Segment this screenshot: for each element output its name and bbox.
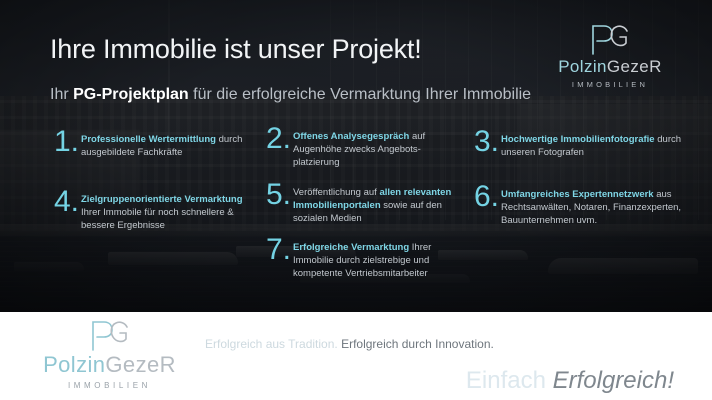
step-text-bold: Erfolgreiche Vermarktung bbox=[293, 242, 409, 253]
step-item-4: 4. Zielgruppenorientierte Vermarktung Ih… bbox=[54, 193, 259, 232]
subtitle-highlight: PG-Projektplan bbox=[73, 86, 189, 103]
step-text-rest: Ihrer Immobile für noch schnellere & bes… bbox=[81, 207, 234, 231]
step-text: Erfolgreiche Vermarktung Ihrer Immobilie… bbox=[293, 241, 471, 280]
step-text: Veröffentlichung auf allen relevanten Im… bbox=[293, 186, 471, 225]
step-text-bold: Offenes Analysegespräch bbox=[293, 131, 409, 142]
subtitle-pre: Ihr bbox=[50, 86, 73, 103]
step-item-6: 6. Umfangreiches Expertennetzwerk aus Re… bbox=[474, 188, 689, 227]
step-text-bold: Umfangreiches Expertennetzwerk bbox=[501, 189, 654, 200]
step-text: Hochwertige Immobilienfotografie durch u… bbox=[501, 133, 689, 159]
step-text-bold: Hochwertige Immobilienfotografie bbox=[501, 134, 655, 145]
brand-wordmark: PolzinGezeR bbox=[540, 58, 680, 75]
brand-word-first: Polzin bbox=[43, 352, 105, 377]
brand-word-first: Polzin bbox=[558, 57, 607, 76]
claim-erfolgreich: Erfolgreich! bbox=[553, 367, 674, 394]
step-item-5: 5. Veröffentlichung auf allen relevanten… bbox=[266, 186, 471, 225]
pg-monogram-icon bbox=[540, 22, 680, 56]
step-text: Umfangreiches Expertennetzwerk aus Recht… bbox=[501, 188, 689, 227]
brand-logo-footer: PolzinGezeR IMMOBILIEN bbox=[22, 318, 197, 390]
step-text: Offenes Analysegespräch auf Augenhöhe zw… bbox=[293, 130, 466, 169]
footer-section: PolzinGezeR IMMOBILIEN Erfolgreich aus T… bbox=[0, 312, 712, 400]
brand-subtitle: IMMOBILIEN bbox=[540, 80, 680, 89]
step-item-3: 3. Hochwertige Immobilienfotografie durc… bbox=[474, 133, 689, 159]
step-text-bold: Professionelle Wertermittlung bbox=[81, 134, 216, 145]
pg-monogram-icon bbox=[22, 318, 197, 352]
step-text: Professionelle Wertermittlung durch ausg… bbox=[81, 133, 254, 159]
marketing-poster: Ihre Immobilie ist unser Projekt! Ihr PG… bbox=[0, 0, 712, 400]
step-item-1: 1. Professionelle Wertermittlung durch a… bbox=[54, 133, 254, 159]
brand-wordmark: PolzinGezeR bbox=[22, 354, 197, 376]
step-text: Zielgruppenorientierte Vermarktung Ihrer… bbox=[81, 193, 259, 232]
page-title: Ihre Immobilie ist unser Projekt! bbox=[50, 34, 422, 65]
page-subtitle: Ihr PG-Projektplan für die erfolgreiche … bbox=[50, 86, 531, 104]
brand-subtitle: IMMOBILIEN bbox=[22, 381, 197, 390]
step-item-2: 2. Offenes Analysegespräch auf Augenhöhe… bbox=[266, 130, 466, 169]
step-number: 7. bbox=[266, 237, 293, 263]
step-number: 4. bbox=[54, 189, 81, 215]
subtitle-post: für die erfolgreiche Vermarktung Ihrer I… bbox=[189, 86, 531, 103]
step-item-7: 7. Erfolgreiche Vermarktung Ihrer Immobi… bbox=[266, 241, 471, 280]
footer-claim: Einfach Erfolgreich! bbox=[466, 367, 674, 395]
brand-word-second: GezeR bbox=[607, 57, 662, 76]
brand-word-second: GezeR bbox=[105, 352, 175, 377]
step-number: 5. bbox=[266, 182, 293, 208]
hero-section: Ihre Immobilie ist unser Projekt! Ihr PG… bbox=[0, 0, 712, 312]
claim-einfach: Einfach bbox=[466, 367, 553, 394]
step-text-pre: Veröffentlichung auf bbox=[293, 187, 379, 198]
step-number: 1. bbox=[54, 129, 81, 155]
tagline-innovation: Erfolgreich durch Innovation. bbox=[338, 337, 494, 351]
tagline-tradition: Erfolgreich aus Tradition. bbox=[205, 337, 338, 351]
footer-tagline: Erfolgreich aus Tradition. Erfolgreich d… bbox=[205, 337, 494, 351]
step-number: 3. bbox=[474, 129, 501, 155]
step-number: 2. bbox=[266, 126, 293, 152]
brand-logo-hero: PolzinGezeR IMMOBILIEN bbox=[540, 22, 680, 89]
step-number: 6. bbox=[474, 184, 501, 210]
step-text-bold: Zielgruppenorientierte Vermarktung bbox=[81, 194, 243, 205]
